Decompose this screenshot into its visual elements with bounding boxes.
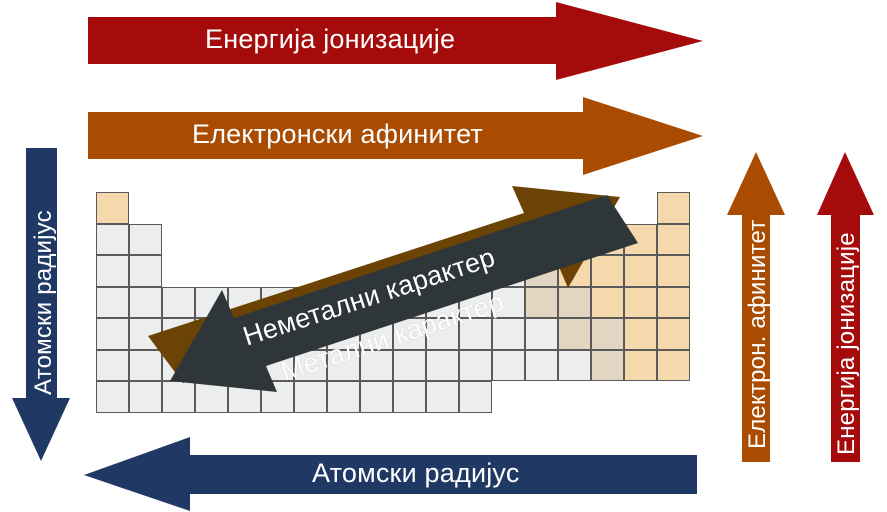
arrow-right-ionization-energy [817,152,874,462]
arrow-diagonal-metal-character [170,195,638,392]
arrow-top-electron-affinity [88,97,703,175]
periodic-trends-diagram: Енергија јонизације Електронски афинитет… [0,0,887,512]
arrow-left-atomic-radius [12,148,70,461]
arrow-top-ionization-energy [88,2,703,80]
arrow-right-electron-affinity [727,152,785,462]
arrow-shapes-layer [0,0,887,512]
arrow-bottom-atomic-radius [84,437,697,511]
